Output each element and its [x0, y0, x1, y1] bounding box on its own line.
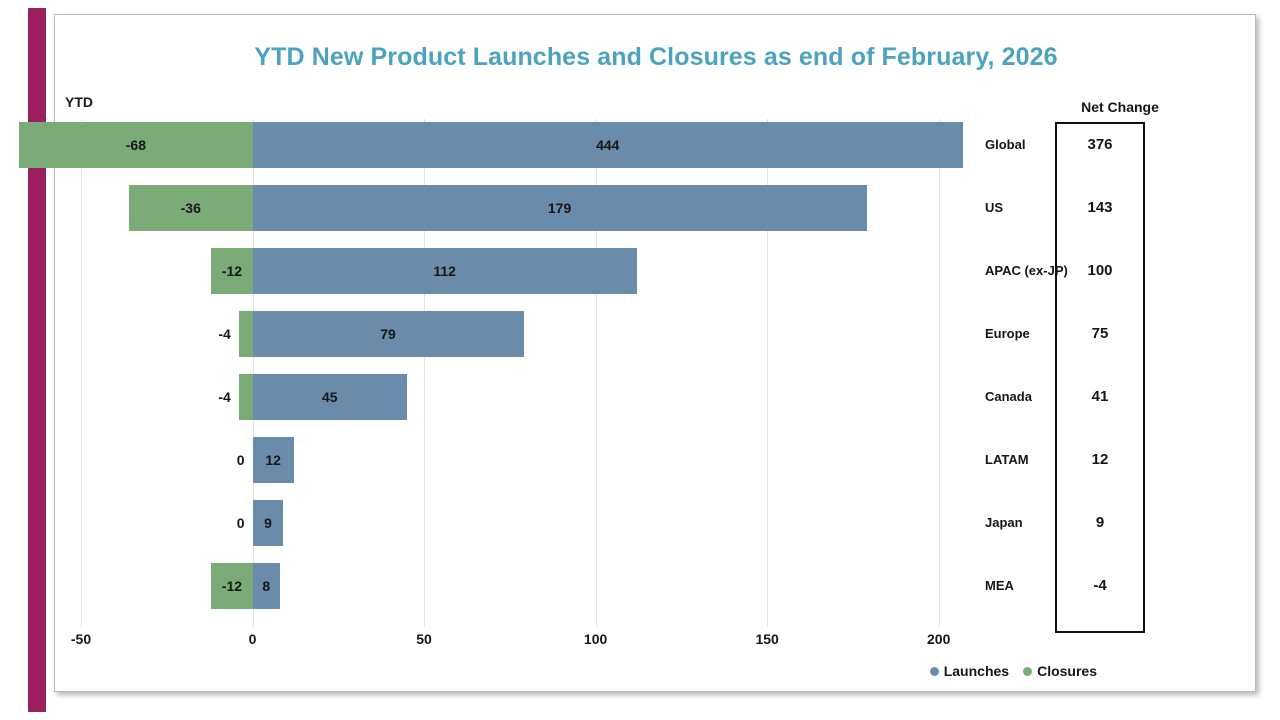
bar-value-label-launches: 112 [253, 248, 637, 294]
slide-canvas: YTD New Product Launches and Closures as… [0, 0, 1280, 720]
category-label: Global [985, 122, 1025, 168]
net-change-value: 376 [1055, 122, 1145, 168]
bar-value-label-launches: 12 [253, 437, 294, 483]
bar-value-label-launches: 444 [253, 122, 963, 168]
bar-value-label-closures: 0 [201, 500, 245, 546]
bar-value-label-closures: -68 [19, 122, 252, 168]
category-label: Japan [985, 500, 1023, 546]
x-axis: -50050100150200 [81, 631, 973, 653]
category-label: LATAM [985, 437, 1029, 483]
x-tick-label: 200 [927, 631, 950, 647]
category-label: Canada [985, 374, 1032, 420]
net-change-value: 143 [1055, 185, 1145, 231]
legend-item-label: Closures [1037, 663, 1097, 679]
bar-value-label-launches: 45 [253, 374, 407, 420]
page-title: YTD New Product Launches and Closures as… [55, 43, 1257, 72]
bar-value-label-closures: -12 [211, 248, 252, 294]
axis-corner-label: YTD [65, 94, 93, 110]
bar-value-label-launches: 79 [253, 311, 524, 357]
legend-dot-icon [930, 667, 939, 676]
bar-row[interactable]: 012 [81, 437, 973, 483]
x-tick-label: 50 [416, 631, 432, 647]
net-change-value: 12 [1055, 437, 1145, 483]
bar-row[interactable]: 09 [81, 500, 973, 546]
bar-value-label-launches: 179 [253, 185, 867, 231]
bar-value-label-closures: -36 [129, 185, 253, 231]
legend-item[interactable]: Launches [930, 663, 1009, 679]
bar-row[interactable]: -128 [81, 563, 973, 609]
plot-area: -68444-36179-12112-479-44501209-128 [81, 119, 973, 627]
x-tick-label: 100 [584, 631, 607, 647]
x-tick-label: -50 [71, 631, 91, 647]
chart-legend: LaunchesClosures [55, 663, 1257, 679]
category-label: US [985, 185, 1003, 231]
net-change-value: 100 [1055, 248, 1145, 294]
legend-item-label: Launches [944, 663, 1009, 679]
bar-row[interactable]: -445 [81, 374, 973, 420]
bar-segment-closures[interactable] [239, 311, 253, 357]
bar-value-label-launches: 8 [253, 563, 280, 609]
category-label: MEA [985, 563, 1014, 609]
left-accent-bar [28, 8, 46, 712]
bar-row[interactable]: -479 [81, 311, 973, 357]
chart-card: YTD New Product Launches and Closures as… [54, 14, 1256, 692]
bar-value-label-closures: -4 [187, 311, 231, 357]
bar-row[interactable]: -68444 [81, 122, 973, 168]
bar-value-label-closures: 0 [201, 437, 245, 483]
legend-dot-icon [1023, 667, 1032, 676]
x-tick-label: 150 [755, 631, 778, 647]
bar-row[interactable]: -36179 [81, 185, 973, 231]
category-label: Europe [985, 311, 1030, 357]
net-change-value: 9 [1055, 500, 1145, 546]
bar-segment-closures[interactable] [239, 374, 253, 420]
bar-value-label-closures: -12 [211, 563, 252, 609]
net-change-value: -4 [1055, 563, 1145, 609]
net-change-value: 41 [1055, 374, 1145, 420]
net-change-header: Net Change [1055, 99, 1185, 115]
bar-value-label-launches: 9 [253, 500, 284, 546]
bar-value-label-closures: -4 [187, 374, 231, 420]
legend-item[interactable]: Closures [1023, 663, 1097, 679]
net-change-value: 75 [1055, 311, 1145, 357]
bar-row[interactable]: -12112 [81, 248, 973, 294]
x-tick-label: 0 [249, 631, 257, 647]
